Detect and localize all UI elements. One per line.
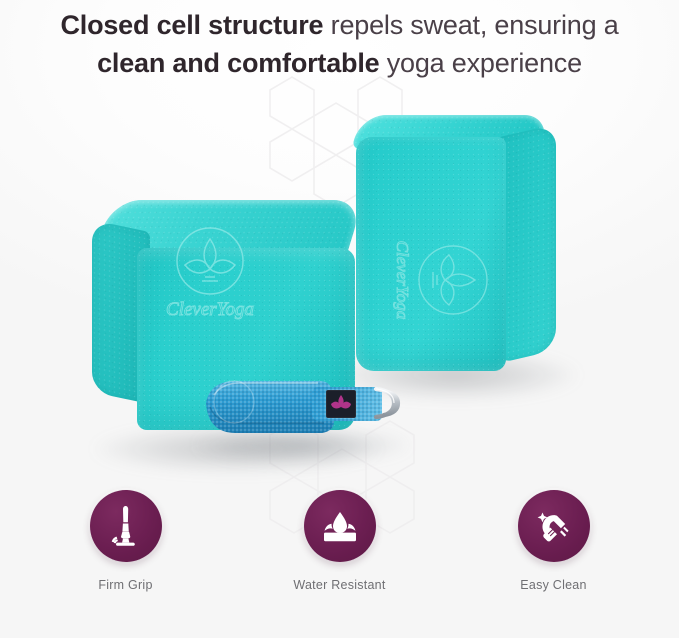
water-droplet-repel-icon bbox=[317, 503, 363, 549]
yoga-strap bbox=[200, 373, 415, 435]
headline: Closed cell structure repels sweat, ensu… bbox=[0, 6, 679, 82]
hand-wiping-cloth-icon bbox=[531, 503, 577, 549]
feature-firm-grip: Firm Grip bbox=[67, 490, 185, 592]
feature-water-resistant: Water Resistant bbox=[281, 490, 399, 592]
headline-line-1: Closed cell structure repels sweat, ensu… bbox=[0, 6, 679, 44]
feature-easy-clean: Easy Clean bbox=[495, 490, 613, 592]
feature-list: Firm Grip Water Resistant bbox=[0, 490, 679, 620]
feature-water-resistant-label: Water Resistant bbox=[293, 578, 385, 592]
feature-water-resistant-badge bbox=[304, 490, 376, 562]
feature-firm-grip-badge bbox=[90, 490, 162, 562]
headline-line-2-strong: clean and comfortable bbox=[97, 48, 379, 78]
headline-line-1-light: repels sweat, ensuring a bbox=[323, 10, 618, 40]
handstand-yoga-pose-icon bbox=[103, 503, 149, 549]
feature-firm-grip-label: Firm Grip bbox=[98, 578, 152, 592]
product-marketing-image: Closed cell structure repels sweat, ensu… bbox=[0, 0, 679, 638]
headline-line-2-light: yoga experience bbox=[379, 48, 581, 78]
feature-easy-clean-label: Easy Clean bbox=[520, 578, 586, 592]
headline-line-2: clean and comfortable yoga experience bbox=[0, 44, 679, 82]
feature-easy-clean-badge bbox=[518, 490, 590, 562]
product-photo: CleverYoga CleverYoga bbox=[0, 95, 679, 475]
headline-line-1-strong: Closed cell structure bbox=[60, 10, 323, 40]
